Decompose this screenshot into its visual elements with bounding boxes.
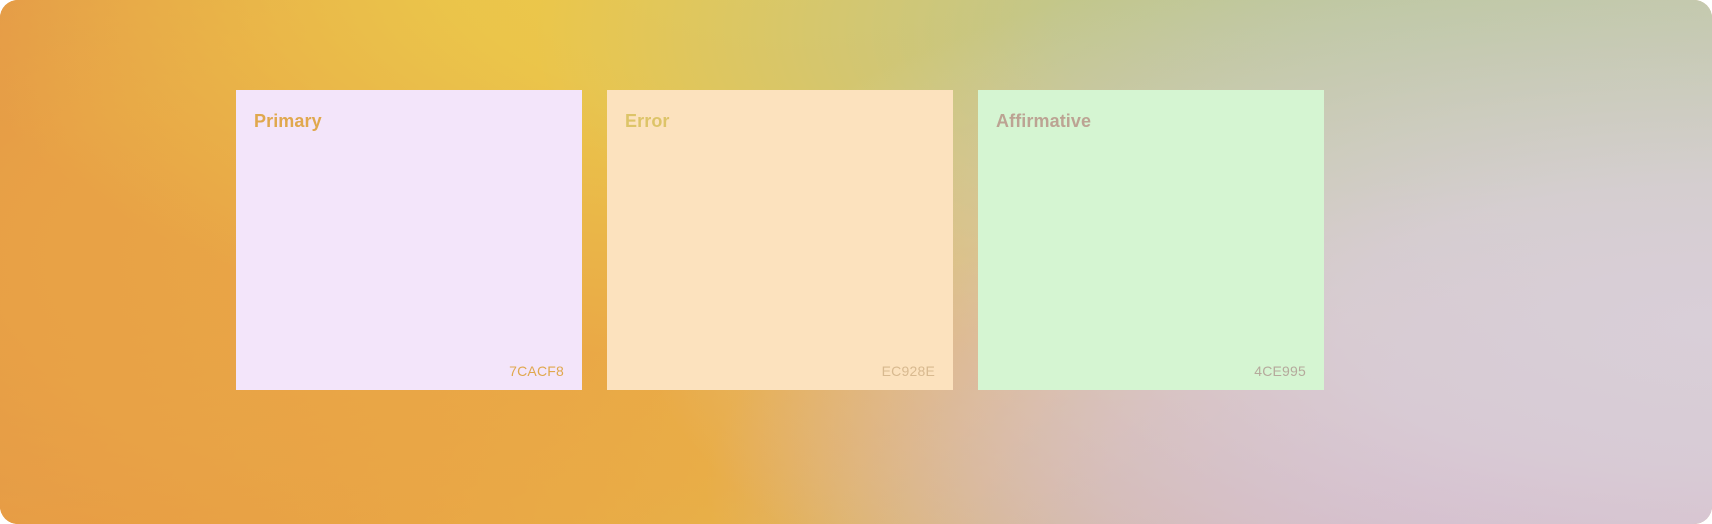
color-swatch-row: Primary 7CACF8 Error EC928E Affirmative … [236,90,1324,390]
color-swatch-card[interactable]: Affirmative 4CE995 [978,90,1324,390]
color-swatch-card[interactable]: Primary 7CACF8 [236,90,582,390]
color-palette-canvas: Primary 7CACF8 Error EC928E Affirmative … [0,0,1712,524]
swatch-hex-value: 4CE995 [996,364,1306,378]
swatch-hex-value: EC928E [625,364,935,378]
swatch-label: Error [625,112,935,130]
swatch-label: Primary [254,112,564,130]
swatch-label: Affirmative [996,112,1306,130]
swatch-hex-value: 7CACF8 [254,364,564,378]
color-swatch-card[interactable]: Error EC928E [607,90,953,390]
